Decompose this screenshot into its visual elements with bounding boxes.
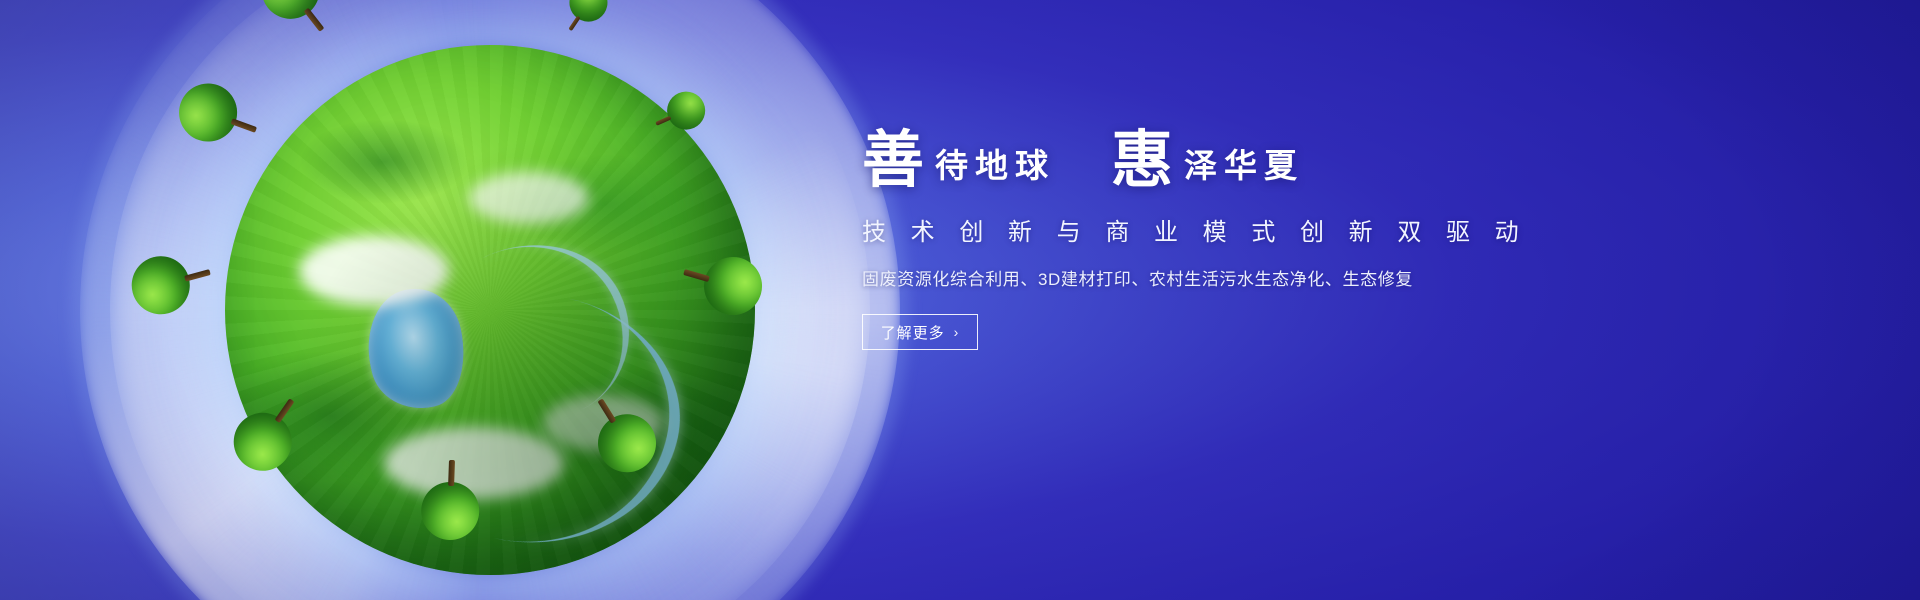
chevron-right-icon: › bbox=[954, 325, 960, 339]
cloud-patch bbox=[384, 427, 564, 499]
headline-char-primary-2: 惠 bbox=[1111, 130, 1174, 192]
lake-shape bbox=[357, 280, 476, 417]
globe-artwork bbox=[60, 0, 920, 600]
cloud-patch bbox=[299, 236, 449, 306]
banner-content: 善 待地球 惠 泽华夏 技 术 创 新 与 商 业 模 式 创 新 双 驱 动 … bbox=[862, 128, 1622, 350]
tree-trunk bbox=[448, 460, 455, 486]
description: 固废资源化综合利用、3D建材打印、农村生活污水生态净化、生态修复 bbox=[862, 265, 1622, 290]
learn-more-label: 了解更多 bbox=[881, 322, 945, 343]
learn-more-button[interactable]: 了解更多 › bbox=[862, 314, 978, 350]
headline-text-secondary-1: 待地球 bbox=[925, 151, 1055, 184]
cloud-patch bbox=[469, 172, 589, 224]
headline-text-secondary-2: 泽华夏 bbox=[1174, 151, 1304, 184]
river-branch-shape bbox=[437, 210, 658, 441]
headline: 善 待地球 惠 泽华夏 bbox=[862, 128, 1622, 190]
subtitle: 技 术 创 新 与 商 业 模 式 创 新 双 驱 动 bbox=[862, 212, 1622, 247]
headline-char-primary-1: 善 bbox=[862, 130, 925, 192]
hero-banner: 善 待地球 惠 泽华夏 技 术 创 新 与 商 业 模 式 创 新 双 驱 动 … bbox=[0, 0, 1920, 600]
